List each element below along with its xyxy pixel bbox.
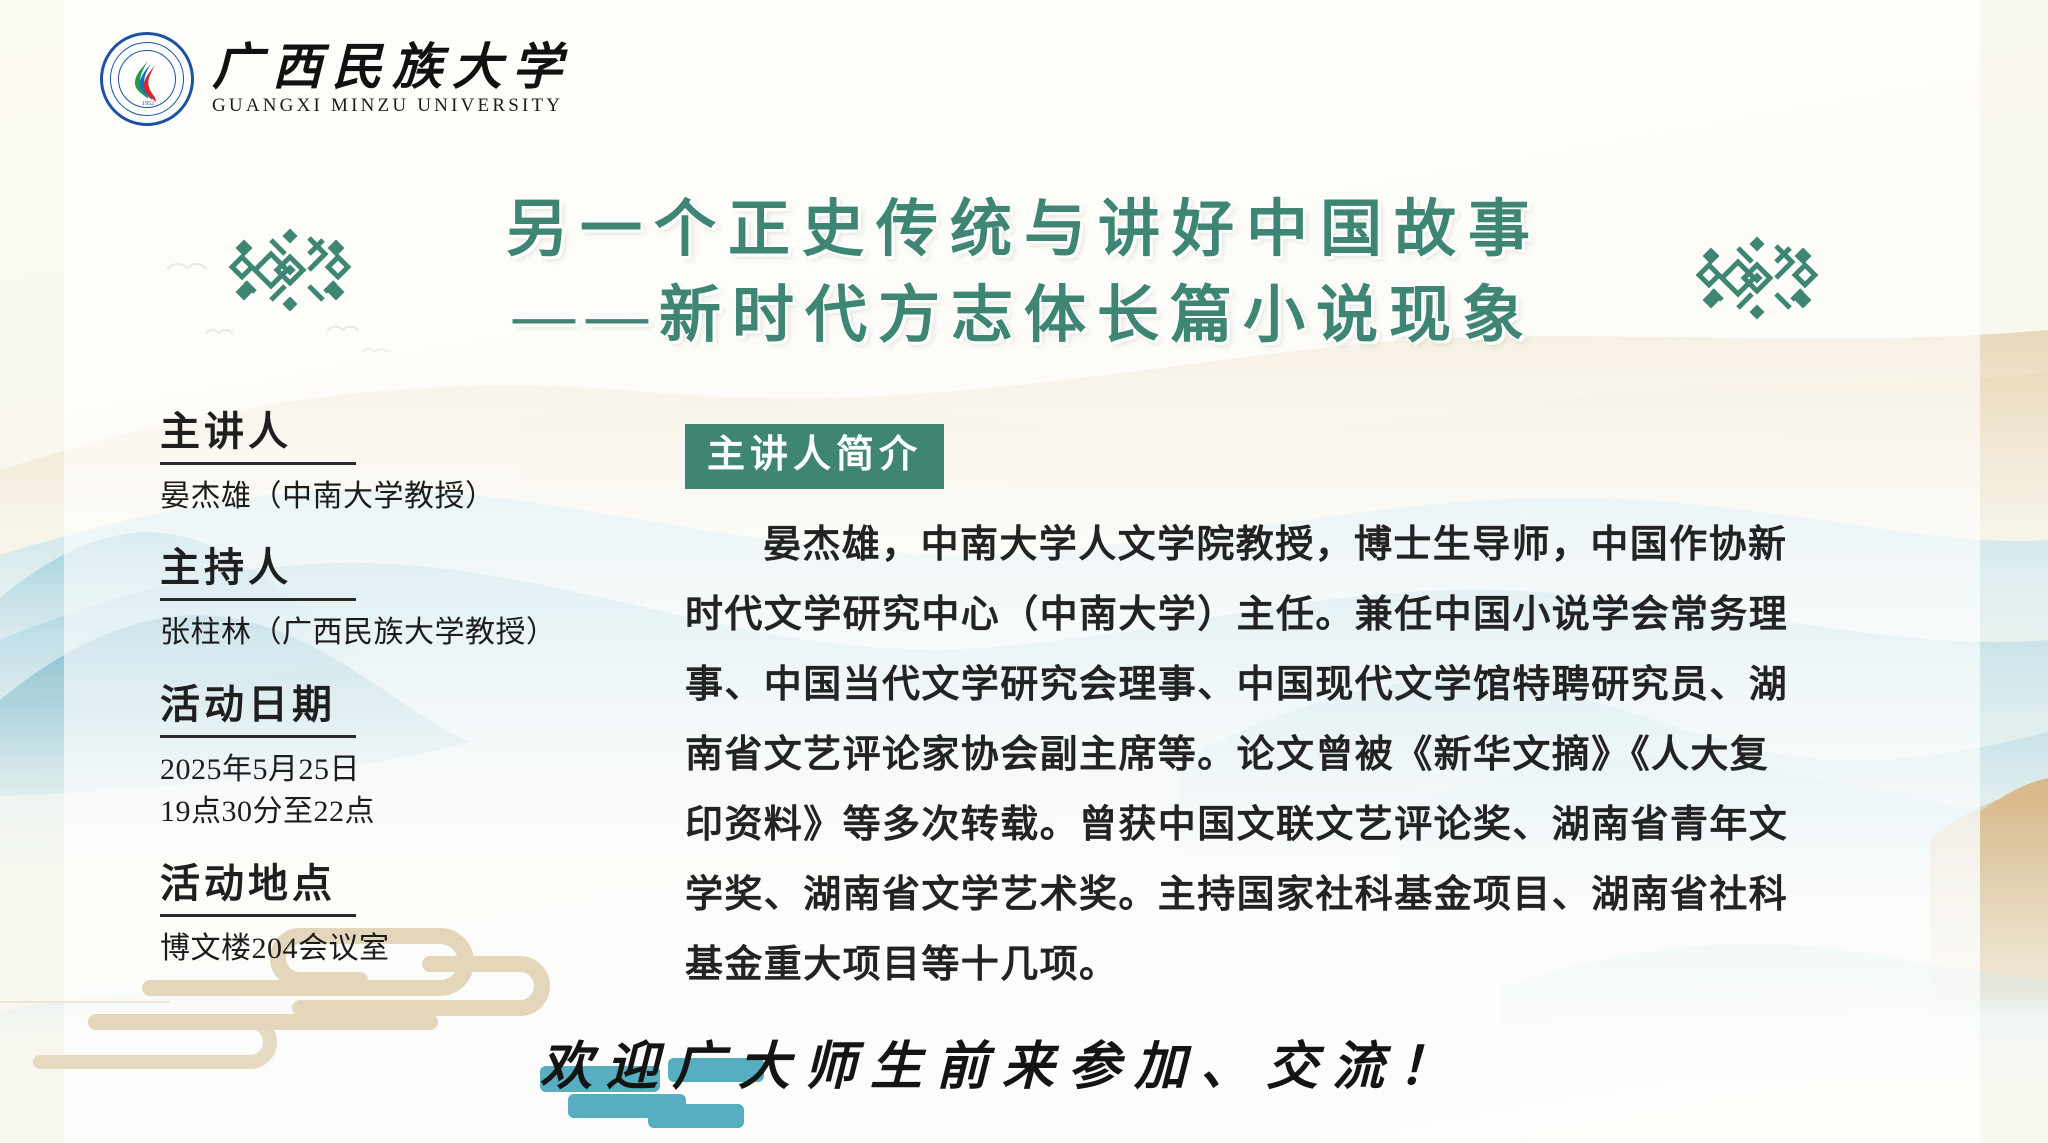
info-divider <box>160 914 356 917</box>
university-name-cn: 广西民族大学 <box>212 41 572 94</box>
university-logo: 1952 广西民族大学 GUANGXI MINZU UNIVERSITY <box>100 32 572 126</box>
bio-line: 南省文艺评论家协会副主席等。论文曾被《新华文摘》《人大复 <box>685 720 1950 790</box>
info-value-host: 张柱林（广西民族大学教授） <box>160 612 580 655</box>
seal-year-label: 1952 <box>142 101 154 107</box>
info-value-venue: 博文楼204会议室 <box>160 928 580 971</box>
speaker-bio-badge-label: 主讲人简介 <box>707 434 922 476</box>
info-divider <box>160 598 356 601</box>
info-label-host: 主持人 <box>160 544 580 593</box>
lecture-title: 另一个正史传统与讲好中国故事 ——新时代方志体长篇小说现象 <box>0 188 2048 359</box>
info-group-venue: 活动地点 博文楼204会议室 <box>160 860 580 970</box>
info-value-time: 19点30分至22点 <box>160 791 580 834</box>
university-name-en: GUANGXI MINZU UNIVERSITY <box>212 95 572 117</box>
bio-line: 印资料》等多次转载。曾获中国文联文艺评论奖、湖南省青年文 <box>685 790 1950 860</box>
bio-line: 晏杰雄，中南大学人文学院教授，博士生导师，中国作协新 <box>685 510 1950 580</box>
bio-line: 事、中国当代文学研究会理事、中国现代文学馆特聘研究员、湖 <box>685 650 1950 720</box>
event-info-column: 主讲人 晏杰雄（中南大学教授） 主持人 张柱林（广西民族大学教授） 活动日期 2… <box>160 408 580 996</box>
university-seal-icon: 1952 <box>100 32 194 126</box>
speaker-bio-badge: 主讲人简介 <box>685 424 944 489</box>
info-divider <box>160 735 356 738</box>
info-label-speaker: 主讲人 <box>160 408 580 457</box>
speaker-bio-body: 晏杰雄，中南大学人文学院教授，博士生导师，中国作协新 时代文学研究中心（中南大学… <box>685 510 1950 1000</box>
welcome-slogan: 欢迎广大师生前来参加、交流！ <box>540 1028 1540 1120</box>
info-value-speaker: 晏杰雄（中南大学教授） <box>160 476 580 519</box>
info-value-date: 2025年5月25日 <box>160 749 580 792</box>
seal-flame-emblem-icon: 1952 <box>119 51 176 108</box>
info-group-speaker: 主讲人 晏杰雄（中南大学教授） <box>160 408 580 518</box>
title-line-2: ——新时代方志体长篇小说现象 <box>0 274 2048 360</box>
info-divider <box>160 462 356 465</box>
info-group-host: 主持人 张柱林（广西民族大学教授） <box>160 544 580 654</box>
bio-line: 时代文学研究中心（中南大学）主任。兼任中国小说学会常务理 <box>685 580 1950 650</box>
title-line-1: 另一个正史传统与讲好中国故事 <box>0 188 2048 274</box>
info-label-venue: 活动地点 <box>160 860 580 909</box>
info-label-date: 活动日期 <box>160 681 580 730</box>
poster-canvas: 1952 广西民族大学 GUANGXI MINZU UNIVERSITY <box>0 0 2048 1143</box>
welcome-slogan-text: 欢迎广大师生前来参加、交流！ <box>540 1028 1540 1108</box>
bio-line: 学奖、湖南省文学艺术奖。主持国家社科基金项目、湖南省社科 <box>685 860 1950 930</box>
info-group-date: 活动日期 2025年5月25日 19点30分至22点 <box>160 681 580 834</box>
bio-line: 基金重大项目等十几项。 <box>685 930 1950 1000</box>
